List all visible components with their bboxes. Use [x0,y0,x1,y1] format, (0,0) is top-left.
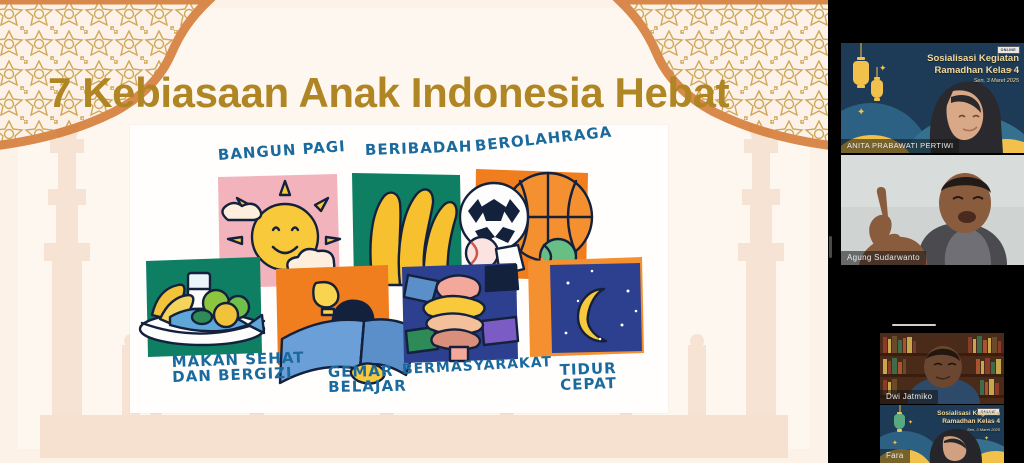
rail-scrollbar[interactable] [829,236,832,258]
participant-name-fara: Fara [880,449,910,463]
slide-title: 7 Kebiasaan Anak Indonesia Hebat [48,62,788,124]
habit-label-tidur-cepat: TIDUR CEPAT [559,361,617,394]
participant-tile-agung[interactable]: Agung Sudarwanto [841,155,1024,265]
rail-group-divider [892,324,936,326]
lantern-icon-fara [894,405,905,439]
participant-name-dwi: Dwi Jatmiko [880,390,938,404]
participant-tile-dwi[interactable]: Dwi Jatmiko [880,333,1004,404]
habit-label-gemar-belajar: GEMAR BELAJAR [328,364,407,396]
panel-tidur-cepat [528,257,644,357]
screen-share-region[interactable]: 7 Kebiasaan Anak Indonesia Hebat [0,0,828,463]
participant-video-agung [841,155,1024,265]
meeting-window: 7 Kebiasaan Anak Indonesia Hebat [0,0,1024,463]
lantern-icon [853,43,869,97]
participant-tile-fara[interactable]: ✦ ✦ ✦ ONLINE Sosialisasi Kegiatan Ramadh… [880,405,1004,463]
participant-name-anita: ANITA PRABAWATI PERTIWI [841,139,959,153]
panel-bermasyarakat [402,263,518,363]
panel-makan-sehat-dan-bergizi [140,257,264,357]
participant-video-rail[interactable]: ✦ ✦ ✦ ✦ [828,0,1024,463]
habit-label-makan-sehat-dan-bergizi: MAKAN SEHAT DAN BERGIZI [171,350,305,385]
virtual-background-title: Sosialisasi Kegiatan Ramadhan Kelas 4 Se… [927,53,1019,85]
lantern-icon-small [871,67,883,109]
virtual-background-title-fara: Sosialisasi Kegiatan Ramadhan Kelas 4 Se… [937,410,1000,432]
participant-name-agung: Agung Sudarwanto [841,251,926,265]
habits-illustration-card: BANGUN PAGI BERIBADAH BEROLAHRAGA MAKAN … [130,125,668,413]
habit-label-beribadah: BERIBADAH [365,139,473,158]
participant-tile-anita[interactable]: ✦ ✦ ✦ ✦ [841,43,1024,153]
